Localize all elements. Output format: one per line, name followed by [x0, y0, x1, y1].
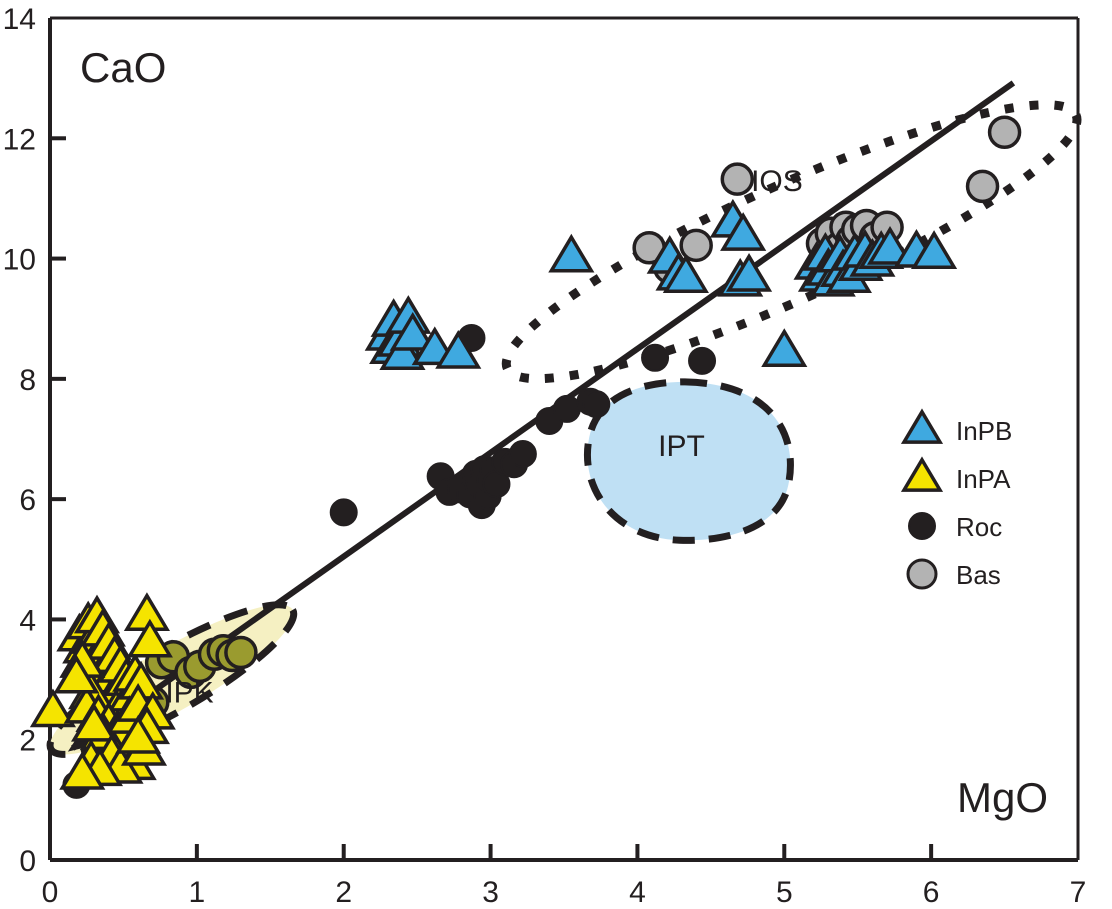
cao-mgo-scatter-plot: 0246810121401234567 IOSIPTIPK CaOMgO InP…	[0, 0, 1112, 909]
data-point-roc-circle[interactable]	[554, 396, 580, 422]
y-axis-tick-label: 8	[19, 364, 36, 397]
y-axis-tick-label: 10	[3, 244, 36, 277]
x-axis-tick-label: 7	[1070, 876, 1087, 909]
x-axis-title: MgO	[957, 774, 1048, 821]
legend-label-bas: Bas	[956, 560, 1001, 590]
y-axis-tick-label: 14	[3, 3, 36, 36]
y-axis-tick-label: 0	[19, 845, 36, 878]
plot-background	[0, 0, 1112, 909]
y-axis-tick-label: 6	[19, 484, 36, 517]
data-point-bas-circle[interactable]	[722, 164, 752, 194]
field-label-ios: IOS	[751, 165, 803, 198]
x-axis-tick-label: 1	[189, 876, 206, 909]
y-axis-tick-label: 4	[19, 604, 36, 637]
y-axis-title: CaO	[80, 44, 166, 91]
legend-marker-roc-circle	[909, 513, 935, 539]
data-point-roc-circle[interactable]	[583, 391, 609, 417]
legend-item-inpa[interactable]: InPA	[904, 460, 1011, 494]
chart-page: 0246810121401234567 IOSIPTIPK CaOMgO InP…	[0, 0, 1112, 909]
field-label-ipt: IPT	[658, 430, 705, 463]
data-point-bas-in-ipk-circle[interactable]	[226, 638, 256, 668]
x-axis-tick-label: 0	[42, 876, 59, 909]
data-point-roc-circle[interactable]	[689, 348, 715, 374]
x-axis-tick-label: 3	[482, 876, 499, 909]
field-label-ipk: IPK	[165, 676, 213, 709]
x-axis-tick-label: 6	[923, 876, 940, 909]
legend-label-roc: Roc	[956, 512, 1002, 542]
legend-label-inpa: InPA	[956, 464, 1011, 494]
data-point-roc-circle[interactable]	[642, 345, 668, 371]
x-axis-tick-label: 2	[335, 876, 352, 909]
legend-item-roc[interactable]: Roc	[909, 512, 1002, 542]
y-axis-tick-label: 2	[19, 725, 36, 758]
y-axis-tick-label: 12	[3, 123, 36, 156]
legend-label-inpb: InPB	[956, 416, 1012, 446]
data-point-roc-circle[interactable]	[510, 441, 536, 467]
x-axis-tick-label: 4	[629, 876, 646, 909]
data-point-roc-circle[interactable]	[331, 499, 357, 525]
legend-marker-bas-circle	[908, 560, 936, 588]
data-point-bas-circle[interactable]	[968, 171, 998, 201]
legend-item-inpb[interactable]: InPB	[904, 412, 1012, 446]
x-axis-tick-label: 5	[776, 876, 793, 909]
data-point-bas-circle[interactable]	[990, 117, 1020, 147]
